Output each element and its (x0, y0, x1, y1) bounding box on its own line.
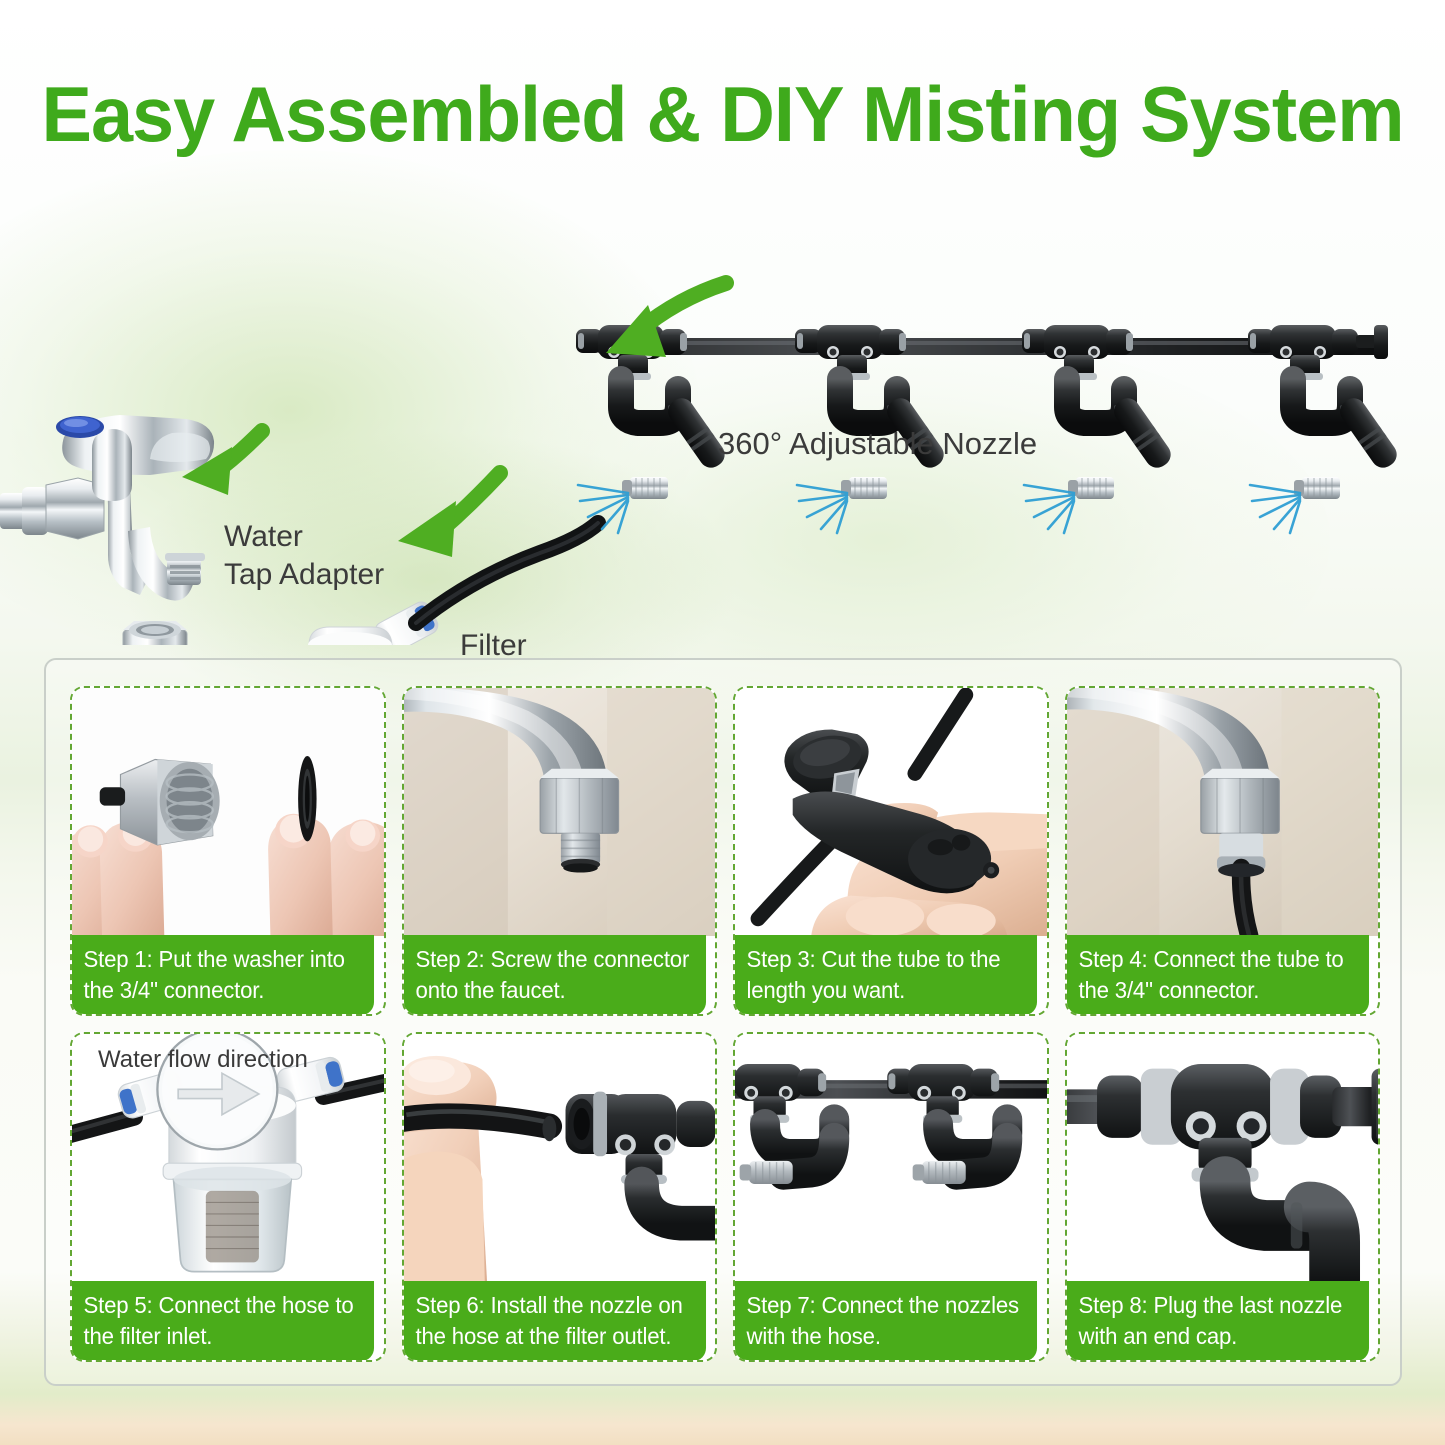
step-caption-1: Step 1: Put the washer into the 3/4" con… (71, 935, 374, 1015)
label-water-tap-adapter: Water Tap Adapter (224, 518, 384, 594)
steps-grid: Step 1: Put the washer into the 3/4" con… (70, 686, 1380, 1362)
step-cell-3[interactable]: Step 3: Cut the tube to the length you w… (733, 686, 1049, 1016)
step-caption-6: Step 6: Install the nozzle on the hose a… (403, 1281, 706, 1361)
step-photo-6 (404, 1034, 716, 1282)
water-flow-direction-note: Water flow direction (98, 1046, 308, 1074)
step-photo-8 (1067, 1034, 1379, 1282)
steps-panel: Step 1: Put the washer into the 3/4" con… (44, 658, 1402, 1386)
step-cell-1[interactable]: Step 1: Put the washer into the 3/4" con… (70, 686, 386, 1016)
spray-icon (797, 485, 847, 533)
step-caption-2: Step 2: Screw the connector onto the fau… (403, 935, 706, 1015)
step-photo-1 (72, 688, 384, 936)
step-photo-4 (1067, 688, 1379, 936)
step-cell-4[interactable]: Step 4: Connect the tube to the 3/4" con… (1065, 686, 1381, 1016)
curved-arrow-icon (398, 473, 500, 557)
step-cell-2[interactable]: Step 2: Screw the connector onto the fau… (402, 686, 718, 1016)
step-caption-4: Step 4: Connect the tube to the 3/4" con… (1066, 935, 1369, 1015)
step-photo-2 (404, 688, 716, 936)
step-caption-8: Step 8: Plug the last nozzle with an end… (1066, 1281, 1369, 1361)
spray-icon (1024, 485, 1074, 533)
hero-diagram: 360° Adjustable Nozzle Water Tap Adapter… (0, 175, 1445, 645)
step-cell-7[interactable]: Step 7: Connect the nozzles with the hos… (733, 1032, 1049, 1362)
step-caption-5: Step 5: Connect the hose to the filter i… (71, 1281, 374, 1361)
faucet-icon (0, 415, 214, 601)
step-photo-3 (735, 688, 1047, 936)
step-cell-8[interactable]: Step 8: Plug the last nozzle with an end… (1065, 1032, 1381, 1362)
page-title: Easy Assembled & DIY Misting System (22, 68, 1424, 160)
step-cell-5[interactable]: Water flow direction (70, 1032, 386, 1362)
step-cell-6[interactable]: Step 6: Install the nozzle on the hose a… (402, 1032, 718, 1362)
tap-adapter-icon (123, 621, 187, 645)
step-caption-3: Step 3: Cut the tube to the length you w… (734, 935, 1037, 1015)
end-cap-icon (1371, 1069, 1378, 1145)
step-photo-7 (735, 1034, 1047, 1282)
step-caption-7: Step 7: Connect the nozzles with the hos… (734, 1281, 1037, 1361)
infographic-page: Easy Assembled & DIY Misting System (0, 0, 1445, 1445)
spray-icon (1250, 485, 1300, 533)
label-adjustable-nozzle: 360° Adjustable Nozzle (718, 425, 1037, 463)
